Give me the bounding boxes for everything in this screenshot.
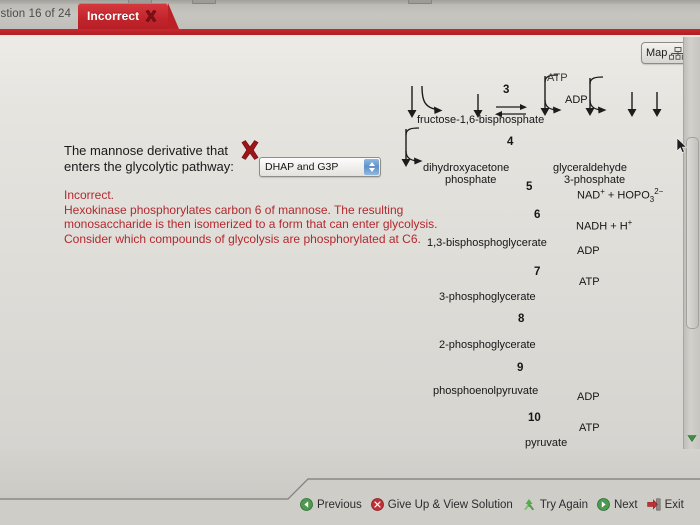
question-prompt-line1: The mannose derivative that bbox=[64, 143, 254, 159]
compound-dhap-line1: dihydroxyacetone bbox=[423, 162, 509, 174]
green-back-arrow-icon bbox=[300, 498, 313, 511]
toolbar-slope-divider bbox=[0, 449, 700, 525]
feedback-line-2: Hexokinase phosphorylates carbon 6 of ma… bbox=[64, 203, 474, 218]
step7-reactant-adp: ADP bbox=[577, 245, 600, 257]
red-x-icon bbox=[144, 9, 158, 23]
window-stub-2 bbox=[192, 0, 216, 4]
question-prompt-line2: enters the glycolytic pathway: bbox=[64, 159, 254, 175]
try-again-button-label: Try Again bbox=[540, 499, 588, 511]
compound-pyruvate: pyruvate bbox=[525, 437, 567, 449]
map-button-label: Map bbox=[646, 47, 667, 59]
feedback-line-1: Incorrect. bbox=[64, 188, 474, 203]
previous-button[interactable]: Previous bbox=[300, 498, 362, 511]
question-prompt: The mannose derivative that enters the g… bbox=[64, 143, 254, 175]
step-number-5: 5 bbox=[526, 181, 532, 193]
scrollbar-thumb[interactable] bbox=[686, 137, 699, 329]
step-number-3: 3 bbox=[503, 84, 509, 96]
step-number-6: 6 bbox=[534, 209, 540, 221]
status-tab-label: Incorrect bbox=[87, 9, 139, 23]
nadh-sup: + bbox=[628, 218, 633, 227]
step10-product-atp: ATP bbox=[579, 422, 600, 434]
step7-product-atp: ATP bbox=[579, 276, 600, 288]
try-again-button[interactable]: Try Again bbox=[522, 498, 588, 511]
step-number-8: 8 bbox=[518, 313, 524, 325]
bottom-toolbar: Previous Give Up & View Solution Try Aga… bbox=[0, 449, 700, 525]
glycolysis-pathway-diagram: ATP 3 ADP fructose-1,6-bisphosphate 4 di… bbox=[395, 74, 685, 454]
answer-dropdown-value: DHAP and G3P bbox=[260, 161, 364, 173]
give-up-button-label: Give Up & View Solution bbox=[388, 499, 513, 511]
red-x-circle-icon bbox=[371, 498, 384, 511]
up-down-stepper-icon[interactable] bbox=[364, 159, 379, 175]
feedback-text: Incorrect. Hexokinase phosphorylates car… bbox=[64, 188, 474, 246]
pathway-atp-cutoff: ATP bbox=[547, 72, 568, 84]
mouse-cursor bbox=[676, 137, 688, 155]
feedback-line-3: monosaccharide is then isomerized to a f… bbox=[64, 217, 474, 232]
content-surface: Map ATP 3 ADP fructose-1,6- bbox=[0, 37, 700, 449]
phosphate-label: + HOPO bbox=[605, 190, 650, 202]
phosphate-sub: 3 bbox=[650, 195, 654, 204]
compound-g3p-line1: glyceraldehyde bbox=[553, 162, 627, 174]
compound-3-phosphoglycerate: 3-phosphoglycerate bbox=[439, 291, 536, 303]
nad-label: NAD bbox=[577, 190, 600, 202]
step-number-10: 10 bbox=[528, 412, 541, 424]
compound-dhap-line2: phosphate bbox=[445, 174, 496, 186]
compound-2-phosphoglycerate: 2-phosphoglycerate bbox=[439, 339, 536, 351]
step6-products: NADH + H+ bbox=[576, 218, 632, 233]
step9-arrow bbox=[648, 92, 668, 122]
stepper-up-arrow bbox=[369, 162, 375, 166]
nadh-label: NADH + H bbox=[576, 221, 628, 233]
navigation-buttons: Previous Give Up & View Solution Try Aga… bbox=[300, 498, 684, 511]
green-down-triangle-icon[interactable] bbox=[687, 433, 697, 443]
phosphate-sup: 2− bbox=[654, 187, 663, 196]
exit-button-label: Exit bbox=[665, 499, 684, 511]
green-forward-arrow-icon bbox=[597, 498, 610, 511]
step-number-9: 9 bbox=[517, 362, 523, 374]
step3-product-adp: ADP bbox=[565, 94, 588, 106]
step10-reactant-adp: ADP bbox=[577, 391, 600, 403]
question-counter: estion 16 of 24 bbox=[0, 8, 71, 20]
compound-g3p-line2: 3-phosphate bbox=[564, 174, 625, 186]
window-stub-3 bbox=[408, 0, 432, 4]
compound-fructose-1-6-bisphosphate: fructose-1,6-bisphosphate bbox=[417, 114, 544, 126]
previous-button-label: Previous bbox=[317, 499, 362, 511]
step8-arrow bbox=[623, 92, 643, 122]
next-button[interactable]: Next bbox=[597, 498, 638, 511]
step-number-4: 4 bbox=[507, 136, 513, 148]
red-x-mark-icon bbox=[239, 139, 261, 161]
step-number-7: 7 bbox=[534, 266, 540, 278]
green-recycle-icon bbox=[522, 498, 536, 511]
give-up-button[interactable]: Give Up & View Solution bbox=[371, 498, 513, 511]
feedback-line-4: Consider which compounds of glycolysis a… bbox=[64, 232, 474, 247]
next-button-label: Next bbox=[614, 499, 638, 511]
answer-dropdown[interactable]: DHAP and G3P bbox=[259, 157, 381, 177]
red-exit-door-icon bbox=[647, 498, 661, 511]
compound-phosphoenolpyruvate: phosphoenolpyruvate bbox=[433, 385, 538, 397]
exit-button[interactable]: Exit bbox=[647, 498, 684, 511]
step6-reactants: NAD+ + HOPO32− bbox=[577, 187, 663, 204]
status-tab-incorrect[interactable]: Incorrect bbox=[78, 3, 168, 29]
vertical-scrollbar[interactable] bbox=[683, 37, 700, 449]
quiz-window: estion 16 of 24 Incorrect Map ATP bbox=[0, 0, 700, 525]
stepper-down-arrow bbox=[369, 168, 375, 172]
